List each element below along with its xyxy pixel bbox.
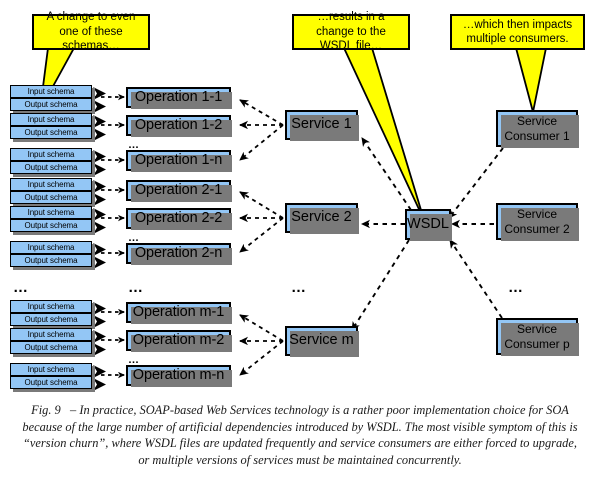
link-consumer1-wsdl <box>449 148 503 218</box>
input-schema-label: Input schema <box>10 363 92 376</box>
schema-column-ellipsis: … <box>13 280 30 295</box>
input-schema-label: Input schema <box>10 300 92 313</box>
schema-pair: Input schema Output schema <box>10 85 92 111</box>
link-servicem-op-m-n <box>240 341 283 375</box>
service-consumer-label: Service Consumer 1 <box>498 114 576 142</box>
input-schema-label: Input schema <box>10 206 92 219</box>
callout-consumer-impact-text: …which then impacts multiple consumers. <box>456 18 579 47</box>
service-box: Service 2 <box>285 203 358 233</box>
operation-label: Operation m-2 <box>133 333 224 348</box>
input-schema-label: Input schema <box>10 113 92 126</box>
operation-label: Operation 2-2 <box>135 211 222 226</box>
figure-number: Fig. 9 <box>31 403 61 417</box>
consumer-column-ellipsis: … <box>508 280 525 295</box>
callout-tail-consumer <box>516 48 546 112</box>
input-schema-label: Input schema <box>10 85 92 98</box>
operation-label: Operation m-1 <box>133 305 224 320</box>
service-consumer-label: Service Consumer 2 <box>498 207 576 235</box>
input-schema-label: Input schema <box>10 328 92 341</box>
input-schema-label: Input schema <box>10 241 92 254</box>
link-service2-op-2-n <box>240 218 283 252</box>
operation-column-ellipsis: … <box>128 280 145 295</box>
link-service1-op-1-n <box>240 125 283 160</box>
output-schema-label: Output schema <box>10 191 92 204</box>
service-label: Service m <box>289 333 353 348</box>
service-consumer-label: Service Consumer p <box>498 322 576 350</box>
operation-box: Operation 2-n <box>126 243 231 264</box>
service-box: Service 1 <box>285 110 358 140</box>
figure-caption: Fig. 9 – In practice, SOAP-based Web Ser… <box>0 398 600 497</box>
service-consumer-box: Service Consumer p <box>496 318 578 355</box>
input-schema-label: Input schema <box>10 148 92 161</box>
schema-pair: Input schema Output schema <box>10 300 92 326</box>
callout-consumer-impact: …which then impacts multiple consumers. <box>450 14 585 50</box>
link-consumerp-wsdl <box>450 240 502 318</box>
callout-wsdl-change-text: …results in a change to the WSDL file… <box>298 10 404 53</box>
operation-box: Operation 1-2 <box>126 115 231 136</box>
schema-pair: Input schema Output schema <box>10 241 92 267</box>
input-schema-label: Input schema <box>10 178 92 191</box>
operation-box: Operation 2-1 <box>126 180 231 201</box>
schema-pair: Input schema Output schema <box>10 113 92 139</box>
wsdl-box: WSDL <box>405 209 451 240</box>
service-box: Service m <box>285 326 358 356</box>
callout-wsdl-change: …results in a change to the WSDL file… <box>292 14 410 50</box>
operation-label: Operation 2-1 <box>135 183 222 198</box>
operation-label: Operation 1-1 <box>135 90 222 105</box>
schema-pair: Input schema Output schema <box>10 206 92 232</box>
link-service2-op-2-1 <box>240 192 283 218</box>
figure-caption-text: – In practice, SOAP-based Web Services t… <box>22 403 577 467</box>
operation-box: Operation m-1 <box>126 302 231 323</box>
link-servicem-op-m-1 <box>240 315 283 341</box>
schema-pair: Input schema Output schema <box>10 148 92 174</box>
figure-page: A change to even one of these schemas… …… <box>0 0 600 497</box>
service-label: Service 1 <box>291 117 351 132</box>
output-schema-label: Output schema <box>10 254 92 267</box>
output-schema-label: Output schema <box>10 126 92 139</box>
operation-label: Operation m-n <box>133 368 224 383</box>
output-schema-label: Output schema <box>10 376 92 389</box>
operation-box: Operation m-2 <box>126 330 231 351</box>
operation-box: Operation 1-1 <box>126 87 231 108</box>
link-service1-op-1-1 <box>240 100 283 125</box>
operation-box: Operation m-n <box>126 365 231 386</box>
output-schema-label: Output schema <box>10 161 92 174</box>
output-schema-label: Output schema <box>10 341 92 354</box>
output-schema-label: Output schema <box>10 98 92 111</box>
wsdl-label: WSDL <box>407 217 449 232</box>
service-consumer-box: Service Consumer 1 <box>496 110 578 147</box>
service-column-ellipsis: … <box>291 280 308 295</box>
diagram-canvas: A change to even one of these schemas… …… <box>0 0 600 398</box>
operation-box: Operation 1-n <box>126 150 231 171</box>
callout-schema-change-text: A change to even one of these schemas… <box>38 10 144 53</box>
schema-pair: Input schema Output schema <box>10 328 92 354</box>
service-consumer-box: Service Consumer 2 <box>496 203 578 240</box>
service-label: Service 2 <box>291 210 351 225</box>
operation-label: Operation 1-2 <box>135 118 222 133</box>
operation-label: Operation 1-n <box>135 153 222 168</box>
operation-label: Operation 2-n <box>135 246 222 261</box>
schema-pair: Input schema Output schema <box>10 178 92 204</box>
schema-pair: Input schema Output schema <box>10 363 92 389</box>
output-schema-label: Output schema <box>10 313 92 326</box>
callout-schema-change: A change to even one of these schemas… <box>32 14 150 50</box>
link-wsdl-servicem <box>352 240 409 330</box>
output-schema-label: Output schema <box>10 219 92 232</box>
operation-box: Operation 2-2 <box>126 208 231 229</box>
